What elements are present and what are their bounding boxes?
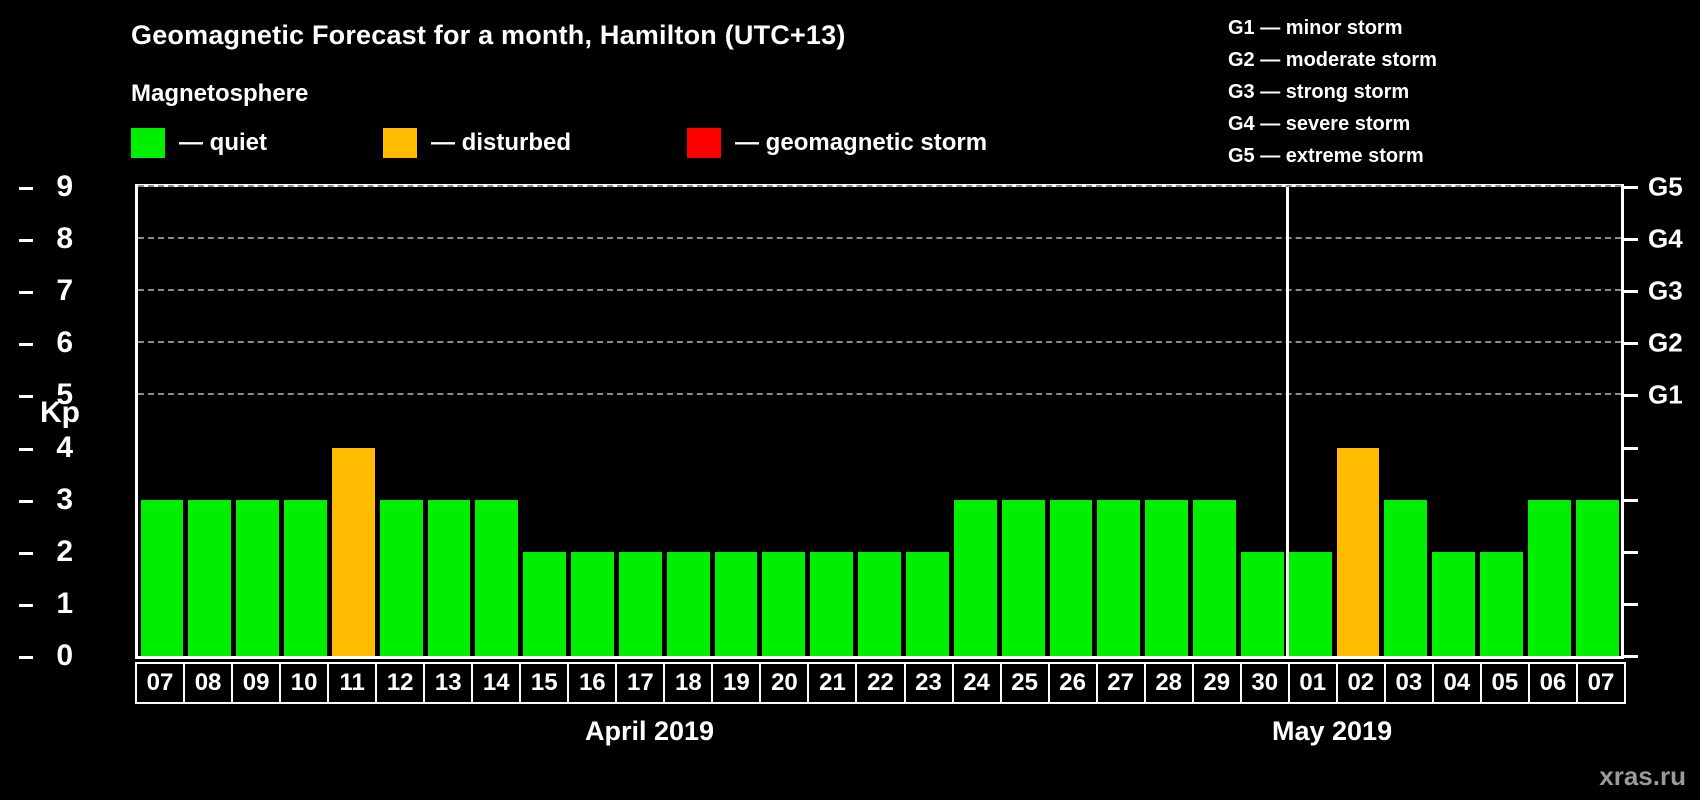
y-tick-mark — [19, 187, 33, 190]
bar-19 — [715, 552, 758, 656]
day-label-19: 19 — [711, 662, 761, 704]
y-tick-mark — [19, 500, 33, 503]
month-divider — [1286, 187, 1289, 656]
y-tick-mark — [19, 448, 33, 451]
g-scale-row-1: G1 — minor storm — [1228, 12, 1437, 44]
g-scale-row-5: G5 — extreme storm — [1228, 140, 1437, 172]
g-tick-G1: G1 — [1648, 380, 1683, 411]
bar-cell — [1334, 187, 1382, 656]
day-label-09: 09 — [231, 662, 281, 704]
bar-cell — [1478, 187, 1526, 656]
legend-swatch-disturbed — [383, 128, 417, 158]
day-label-23: 23 — [904, 662, 954, 704]
bar-01 — [1289, 552, 1332, 656]
g-tick-G5: G5 — [1648, 172, 1683, 203]
bar-cell — [1573, 187, 1621, 656]
g-tick-G2: G2 — [1648, 328, 1683, 359]
bar-07 — [1576, 500, 1619, 656]
day-label-13: 13 — [423, 662, 473, 704]
chart-plot-area — [135, 184, 1624, 659]
magnetosphere-legend: — quiet— disturbed— geomagnetic storm — [131, 128, 987, 158]
legend-label-quiet: — quiet — [179, 129, 267, 157]
bar-cell — [329, 187, 377, 656]
bar-11 — [332, 448, 375, 656]
day-label-08: 08 — [183, 662, 233, 704]
bar-24 — [954, 500, 997, 656]
bar-17 — [619, 552, 662, 656]
bar-05 — [1480, 552, 1523, 656]
g-tick-mark-2 — [1624, 551, 1638, 554]
g-tick-mark-5 — [1624, 394, 1638, 397]
bar-cell — [138, 187, 186, 656]
bar-25 — [1002, 500, 1045, 656]
day-label-16: 16 — [567, 662, 617, 704]
y-tick-0: 0 — [33, 639, 73, 673]
legend-label-disturbed: — disturbed — [431, 129, 571, 157]
g-tick-mark-6 — [1624, 342, 1638, 345]
day-label-17: 17 — [615, 662, 665, 704]
bar-cell — [377, 187, 425, 656]
bar-cell — [1238, 187, 1286, 656]
day-label-21: 21 — [807, 662, 857, 704]
bar-cell — [1047, 187, 1095, 656]
g-tick-mark-8 — [1624, 238, 1638, 241]
page-title: Geomagnetic Forecast for a month, Hamilt… — [131, 20, 846, 51]
day-label-04: 04 — [1432, 662, 1482, 704]
bar-cell — [1525, 187, 1573, 656]
g-tick-mark-7 — [1624, 290, 1638, 293]
bar-13 — [428, 500, 471, 656]
bar-12 — [380, 500, 423, 656]
bar-02 — [1337, 448, 1380, 656]
bar-26 — [1050, 500, 1093, 656]
y-tick-mark — [19, 656, 33, 659]
bar-21 — [810, 552, 853, 656]
y-tick-2: 2 — [33, 535, 73, 569]
bar-cell — [712, 187, 760, 656]
y-tick-8: 8 — [33, 222, 73, 256]
day-label-22: 22 — [855, 662, 905, 704]
legend-item-quiet: — quiet — [131, 128, 267, 158]
g-scale-row-2: G2 — moderate storm — [1228, 44, 1437, 76]
bar-08 — [188, 500, 231, 656]
bar-cell — [234, 187, 282, 656]
bar-29 — [1193, 500, 1236, 656]
y-tick-7: 7 — [33, 274, 73, 308]
bar-18 — [667, 552, 710, 656]
y-tick-mark — [19, 239, 33, 242]
bar-cell — [473, 187, 521, 656]
bar-16 — [571, 552, 614, 656]
g-tick-G3: G3 — [1648, 276, 1683, 307]
month-label-first: April 2019 — [585, 716, 714, 747]
y-tick-1: 1 — [33, 587, 73, 621]
legend-label-storm: — geomagnetic storm — [735, 129, 987, 157]
bar-10 — [284, 500, 327, 656]
y-tick-mark — [19, 604, 33, 607]
bar-cell — [282, 187, 330, 656]
bar-cell — [1191, 187, 1239, 656]
magnetosphere-label: Magnetosphere — [131, 80, 308, 108]
g-tick-mark-9 — [1624, 186, 1638, 189]
day-label-26: 26 — [1048, 662, 1098, 704]
bar-cell — [1095, 187, 1143, 656]
day-label-18: 18 — [663, 662, 713, 704]
legend-swatch-quiet — [131, 128, 165, 158]
y-tick-4: 4 — [33, 431, 73, 465]
day-label-27: 27 — [1096, 662, 1146, 704]
y-tick-9: 9 — [33, 170, 73, 204]
day-label-15: 15 — [519, 662, 569, 704]
bar-22 — [858, 552, 901, 656]
day-label-07: 07 — [135, 662, 185, 704]
day-label-01: 01 — [1288, 662, 1338, 704]
day-label-03: 03 — [1384, 662, 1434, 704]
bar-15 — [523, 552, 566, 656]
day-label-07: 07 — [1576, 662, 1626, 704]
y-tick-mark — [19, 552, 33, 555]
month-label-second: May 2019 — [1272, 716, 1392, 747]
day-label-11: 11 — [327, 662, 377, 704]
day-label-30: 30 — [1240, 662, 1290, 704]
bar-cell — [616, 187, 664, 656]
bar-cell — [1143, 187, 1191, 656]
bar-28 — [1145, 500, 1188, 656]
bar-cell — [664, 187, 712, 656]
bar-cell — [1382, 187, 1430, 656]
bar-cell — [521, 187, 569, 656]
bar-06 — [1528, 500, 1571, 656]
day-label-05: 05 — [1480, 662, 1530, 704]
bar-04 — [1432, 552, 1475, 656]
g-tick-mark-1 — [1624, 603, 1638, 606]
y-tick-5: 5 — [33, 378, 73, 412]
bar-09 — [236, 500, 279, 656]
bar-cell — [186, 187, 234, 656]
bar-14 — [475, 500, 518, 656]
bar-23 — [906, 552, 949, 656]
day-label-10: 10 — [279, 662, 329, 704]
bar-cell — [999, 187, 1047, 656]
legend-swatch-storm — [687, 128, 721, 158]
g-tick-mark-4 — [1624, 447, 1638, 450]
bar-cell — [1286, 187, 1334, 656]
day-label-20: 20 — [759, 662, 809, 704]
bar-cell — [904, 187, 952, 656]
day-label-29: 29 — [1192, 662, 1242, 704]
day-label-12: 12 — [375, 662, 425, 704]
bar-cell — [569, 187, 617, 656]
g-tick-G4: G4 — [1648, 224, 1683, 255]
bar-07 — [141, 500, 184, 656]
bar-20 — [762, 552, 805, 656]
bar-30 — [1241, 552, 1284, 656]
y-tick-6: 6 — [33, 326, 73, 360]
day-label-02: 02 — [1336, 662, 1386, 704]
legend-item-disturbed: — disturbed — [383, 128, 571, 158]
day-label-25: 25 — [1000, 662, 1050, 704]
bar-cell — [760, 187, 808, 656]
y-tick-mark — [19, 291, 33, 294]
bar-cell — [425, 187, 473, 656]
bar-03 — [1384, 500, 1427, 656]
day-label-06: 06 — [1528, 662, 1578, 704]
day-label-14: 14 — [471, 662, 521, 704]
bar-cell — [951, 187, 999, 656]
g-scale-row-3: G3 — strong storm — [1228, 76, 1437, 108]
day-label-24: 24 — [952, 662, 1002, 704]
g-scale-legend: G1 — minor stormG2 — moderate stormG3 — … — [1228, 12, 1437, 172]
bar-series — [138, 187, 1621, 656]
bar-cell — [1430, 187, 1478, 656]
g-scale-row-4: G4 — severe storm — [1228, 108, 1437, 140]
y-tick-mark — [19, 343, 33, 346]
y-tick-mark — [19, 395, 33, 398]
day-label-row: 0708091011121314151617181920212223242526… — [135, 662, 1624, 704]
day-label-28: 28 — [1144, 662, 1194, 704]
bar-27 — [1097, 500, 1140, 656]
legend-item-storm: — geomagnetic storm — [687, 128, 987, 158]
g-tick-mark-3 — [1624, 499, 1638, 502]
bar-cell — [808, 187, 856, 656]
g-tick-mark-0 — [1624, 655, 1638, 658]
y-tick-3: 3 — [33, 483, 73, 517]
watermark: xras.ru — [1599, 761, 1686, 792]
bar-cell — [856, 187, 904, 656]
